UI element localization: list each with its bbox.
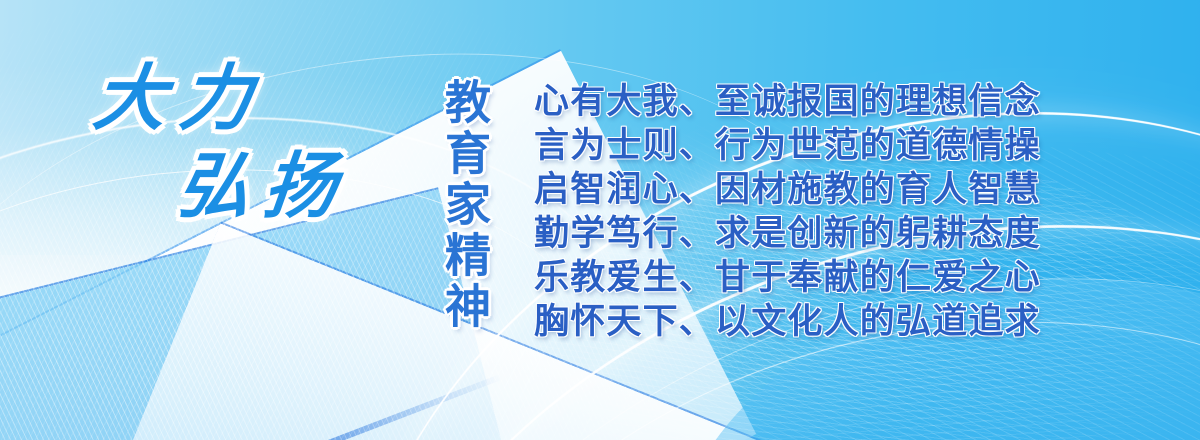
creed-line-4: 勤学笃行、求是创新的躬耕态度 <box>534 212 1041 256</box>
banner-content: 大力 弘扬 教育家精神 心有大我、至诚报国的理想信念 言为士则、行为世范的道德情… <box>0 0 1200 440</box>
education-spirit-banner: 大力 弘扬 教育家精神 心有大我、至诚报国的理想信念 言为士则、行为世范的道德情… <box>0 0 1200 440</box>
creed-line-1: 心有大我、至诚报国的理想信念 <box>534 80 1041 124</box>
headline-calligraphy: 大力 弘扬 <box>88 62 388 262</box>
vertical-title: 教育家精神 <box>420 78 490 333</box>
creed-line-6: 胸怀天下、以文化人的弘道追求 <box>534 300 1041 344</box>
creed-line-2: 言为士则、行为世范的道德情操 <box>534 124 1041 168</box>
creed-text-block: 心有大我、至诚报国的理想信念 言为士则、行为世范的道德情操 启智润心、因材施教的… <box>534 80 1041 344</box>
headline-line-1: 大力 <box>90 62 392 134</box>
headline-line-2: 弘扬 <box>174 150 392 222</box>
creed-line-5: 乐教爱生、甘于奉献的仁爱之心 <box>534 256 1041 300</box>
creed-line-3: 启智润心、因材施教的育人智慧 <box>534 168 1041 212</box>
